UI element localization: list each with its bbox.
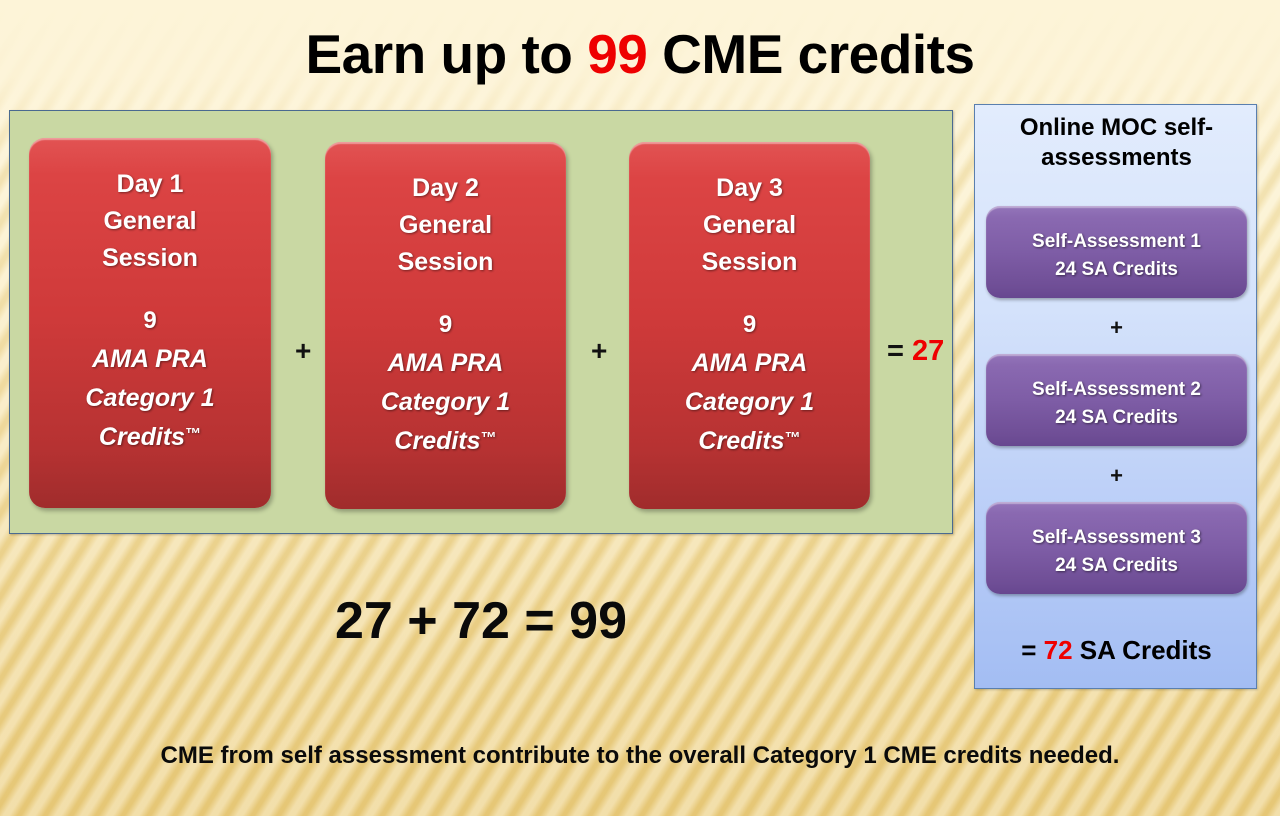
day-1-credit-line-2: Category 1 (29, 379, 271, 418)
day-2-header: Day 2 General Session (325, 170, 566, 280)
sessions-total-prefix: = (887, 335, 912, 367)
self-assessment-panel-title: Online MOC self- assessments (983, 113, 1250, 173)
plus-separator-sa1-sa2: + (975, 317, 1258, 339)
day-3-credit-label: AMA PRA Category 1 Credits™ (629, 344, 870, 460)
trademark-icon: ™ (785, 430, 801, 447)
page-title: Earn up to 99 CME credits (0, 24, 1280, 85)
sa-total-value: 72 (1044, 635, 1073, 665)
self-assessment-panel: Online MOC self- assessments Self-Assess… (974, 104, 1257, 689)
day-1-subtitle-2: Session (29, 240, 271, 277)
day-3-subtitle-1: General (629, 207, 870, 244)
plus-separator-day1-day2: + (295, 337, 311, 365)
credits-equation: 27 + 72 = 99 (9, 595, 953, 647)
day-1-credit-word: Credits (99, 423, 185, 451)
self-assessment-1-box: Self-Assessment 1 24 SA Credits (986, 206, 1247, 298)
day-2-credit-word: Credits (394, 427, 480, 455)
day-1-title: Day 1 (29, 166, 271, 203)
day-1-credit-line-1: AMA PRA (29, 340, 271, 379)
day-boxes-row: Day 1 General Session 9 AMA PRA Category… (10, 111, 954, 535)
day-3-subtitle-2: Session (629, 244, 870, 281)
day-3-header: Day 3 General Session (629, 170, 870, 280)
day-3-session-box: Day 3 General Session 9 AMA PRA Category… (629, 142, 870, 509)
sa-total-prefix: = (1021, 635, 1043, 665)
day-3-credit-line-1: AMA PRA (629, 344, 870, 383)
general-sessions-panel: Day 1 General Session 9 AMA PRA Category… (9, 110, 953, 534)
day-1-session-box: Day 1 General Session 9 AMA PRA Category… (29, 138, 271, 508)
day-2-subtitle-2: Session (325, 244, 566, 281)
self-assessment-title-line-1: Online MOC self- (983, 113, 1250, 143)
day-3-credit-number: 9 (629, 313, 870, 337)
trademark-icon: ™ (481, 430, 497, 447)
day-1-subtitle-1: General (29, 203, 271, 240)
self-assessment-3-box: Self-Assessment 3 24 SA Credits (986, 502, 1247, 594)
day-3-credit-line-3: Credits™ (629, 422, 870, 461)
plus-separator-day2-day3: + (591, 337, 607, 365)
self-assessment-1-credits: 24 SA Credits (986, 256, 1247, 284)
day-2-credit-line-1: AMA PRA (325, 344, 566, 383)
day-2-title: Day 2 (325, 170, 566, 207)
day-1-header: Day 1 General Session (29, 166, 271, 276)
day-2-credit-number: 9 (325, 313, 566, 337)
day-2-credit-line-3: Credits™ (325, 422, 566, 461)
title-prefix: Earn up to (305, 23, 587, 85)
self-assessment-2-name: Self-Assessment 2 (986, 376, 1247, 404)
day-3-credit-word: Credits (698, 427, 784, 455)
sessions-total-value: 27 (912, 335, 944, 367)
self-assessment-3-credits: 24 SA Credits (986, 552, 1247, 580)
day-1-credit-line-3: Credits™ (29, 418, 271, 457)
day-2-subtitle-1: General (325, 207, 566, 244)
plus-separator-sa2-sa3: + (975, 465, 1258, 487)
self-assessment-2-credits: 24 SA Credits (986, 404, 1247, 432)
footer-caption: CME from self assessment contribute to t… (0, 742, 1280, 771)
day-1-credit-label: AMA PRA Category 1 Credits™ (29, 340, 271, 456)
day-1-credit-number: 9 (29, 309, 271, 333)
self-assessment-total: = 72 SA Credits (975, 637, 1258, 663)
self-assessment-3-name: Self-Assessment 3 (986, 524, 1247, 552)
day-3-title: Day 3 (629, 170, 870, 207)
sa-total-suffix: SA Credits (1073, 635, 1212, 665)
self-assessment-title-line-2: assessments (983, 143, 1250, 173)
day-2-credit-line-2: Category 1 (325, 383, 566, 422)
self-assessment-2-box: Self-Assessment 2 24 SA Credits (986, 354, 1247, 446)
title-suffix: CME credits (647, 23, 974, 85)
day-2-credit-label: AMA PRA Category 1 Credits™ (325, 344, 566, 460)
trademark-icon: ™ (185, 426, 201, 443)
title-credit-count: 99 (587, 23, 647, 85)
day-3-credit-line-2: Category 1 (629, 383, 870, 422)
day-2-session-box: Day 2 General Session 9 AMA PRA Category… (325, 142, 566, 509)
slide-canvas: Earn up to 99 CME credits Day 1 General … (0, 0, 1280, 816)
sessions-total: = 27 (887, 337, 944, 366)
self-assessment-1-name: Self-Assessment 1 (986, 228, 1247, 256)
